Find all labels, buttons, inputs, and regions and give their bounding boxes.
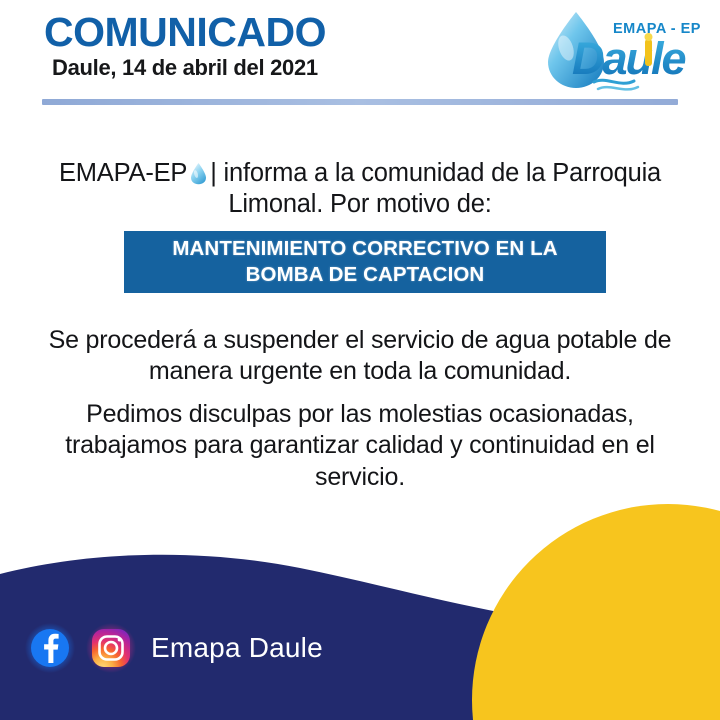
yellow-circle-shape xyxy=(472,504,720,720)
header-date: Daule, 14 de abril del 2021 xyxy=(52,57,318,79)
intro-text-before-drop: EMAPA-EP xyxy=(59,159,187,187)
banner-line-2: BOMBA DE CAPTACION xyxy=(172,262,557,288)
banner-line-1: MANTENIMIENTO CORRECTIVO EN LA xyxy=(172,236,557,262)
paragraph-2-line-1: Pedimos disculpas por las molestias ocas… xyxy=(36,399,684,430)
social-footer: Emapa Daule xyxy=(24,622,323,674)
emapa-daule-logo: EMAPA - EP Daule xyxy=(542,6,702,92)
paragraph-2-line-3: servicio. xyxy=(36,462,684,493)
status-banner: MANTENIMIENTO CORRECTIVO EN LA BOMBA DE … xyxy=(124,231,606,293)
page-title: COMUNICADO xyxy=(44,12,326,53)
paragraph-2-line-2: trabajamos para garantizar calidad y con… xyxy=(36,430,684,461)
paragraph-1-line-2: manera urgente en toda la comunidad. xyxy=(36,356,684,387)
logo-main-text: Daule xyxy=(572,33,686,84)
header-divider xyxy=(42,99,678,105)
facebook-icon[interactable] xyxy=(24,622,76,674)
social-handle-text: Emapa Daule xyxy=(151,634,323,662)
banner-text-block: MANTENIMIENTO CORRECTIVO EN LA BOMBA DE … xyxy=(172,236,557,288)
water-drop-icon xyxy=(190,162,207,185)
comunicado-poster: COMUNICADO Daule, 14 de abril del 2021 E… xyxy=(0,0,720,720)
intro-text-after-drop: | informa a la comunidad de la Parroquia xyxy=(210,159,661,187)
logo-accent-mark xyxy=(645,39,652,66)
notice-paragraph-1: Se procederá a suspender el servicio de … xyxy=(36,325,684,388)
notice-paragraph-2: Pedimos disculpas por las molestias ocas… xyxy=(36,399,684,493)
intro-text: EMAPA-EP | informa a la comunidad de la … xyxy=(40,158,680,220)
paragraph-1-line-1: Se procederá a suspender el servicio de … xyxy=(36,325,684,356)
instagram-icon[interactable] xyxy=(85,622,137,674)
intro-text-line-2: Limonal. Por motivo de: xyxy=(228,190,491,218)
